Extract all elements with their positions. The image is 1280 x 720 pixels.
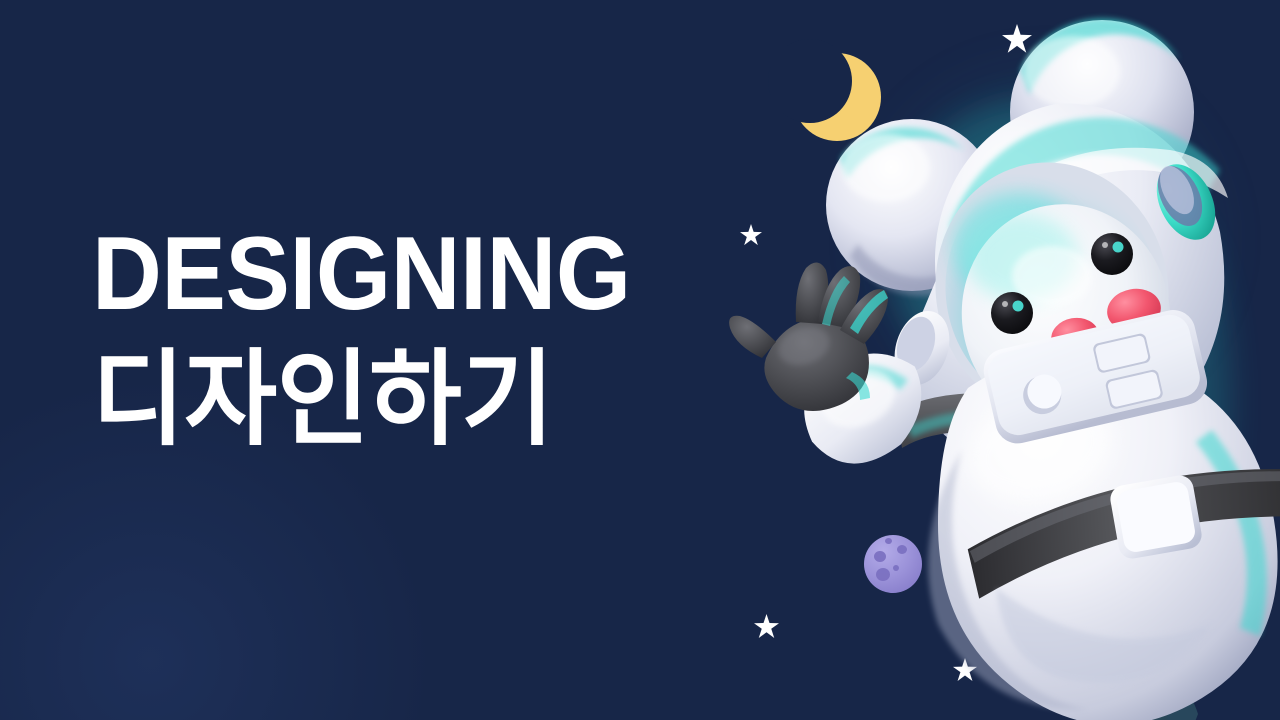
headline-block: DESIGNING 디자인하기 xyxy=(92,222,742,452)
astronaut-mouse-character xyxy=(700,0,1280,720)
headline-english: DESIGNING xyxy=(92,222,697,326)
mascot-glove xyxy=(729,262,888,411)
mascot-eye-right xyxy=(1091,233,1133,275)
headline-korean: 디자인하기 xyxy=(92,348,723,452)
belt-buckle xyxy=(1108,473,1204,560)
mascot-eye-left xyxy=(991,292,1033,334)
slide-canvas: DESIGNING 디자인하기 xyxy=(0,0,1280,720)
